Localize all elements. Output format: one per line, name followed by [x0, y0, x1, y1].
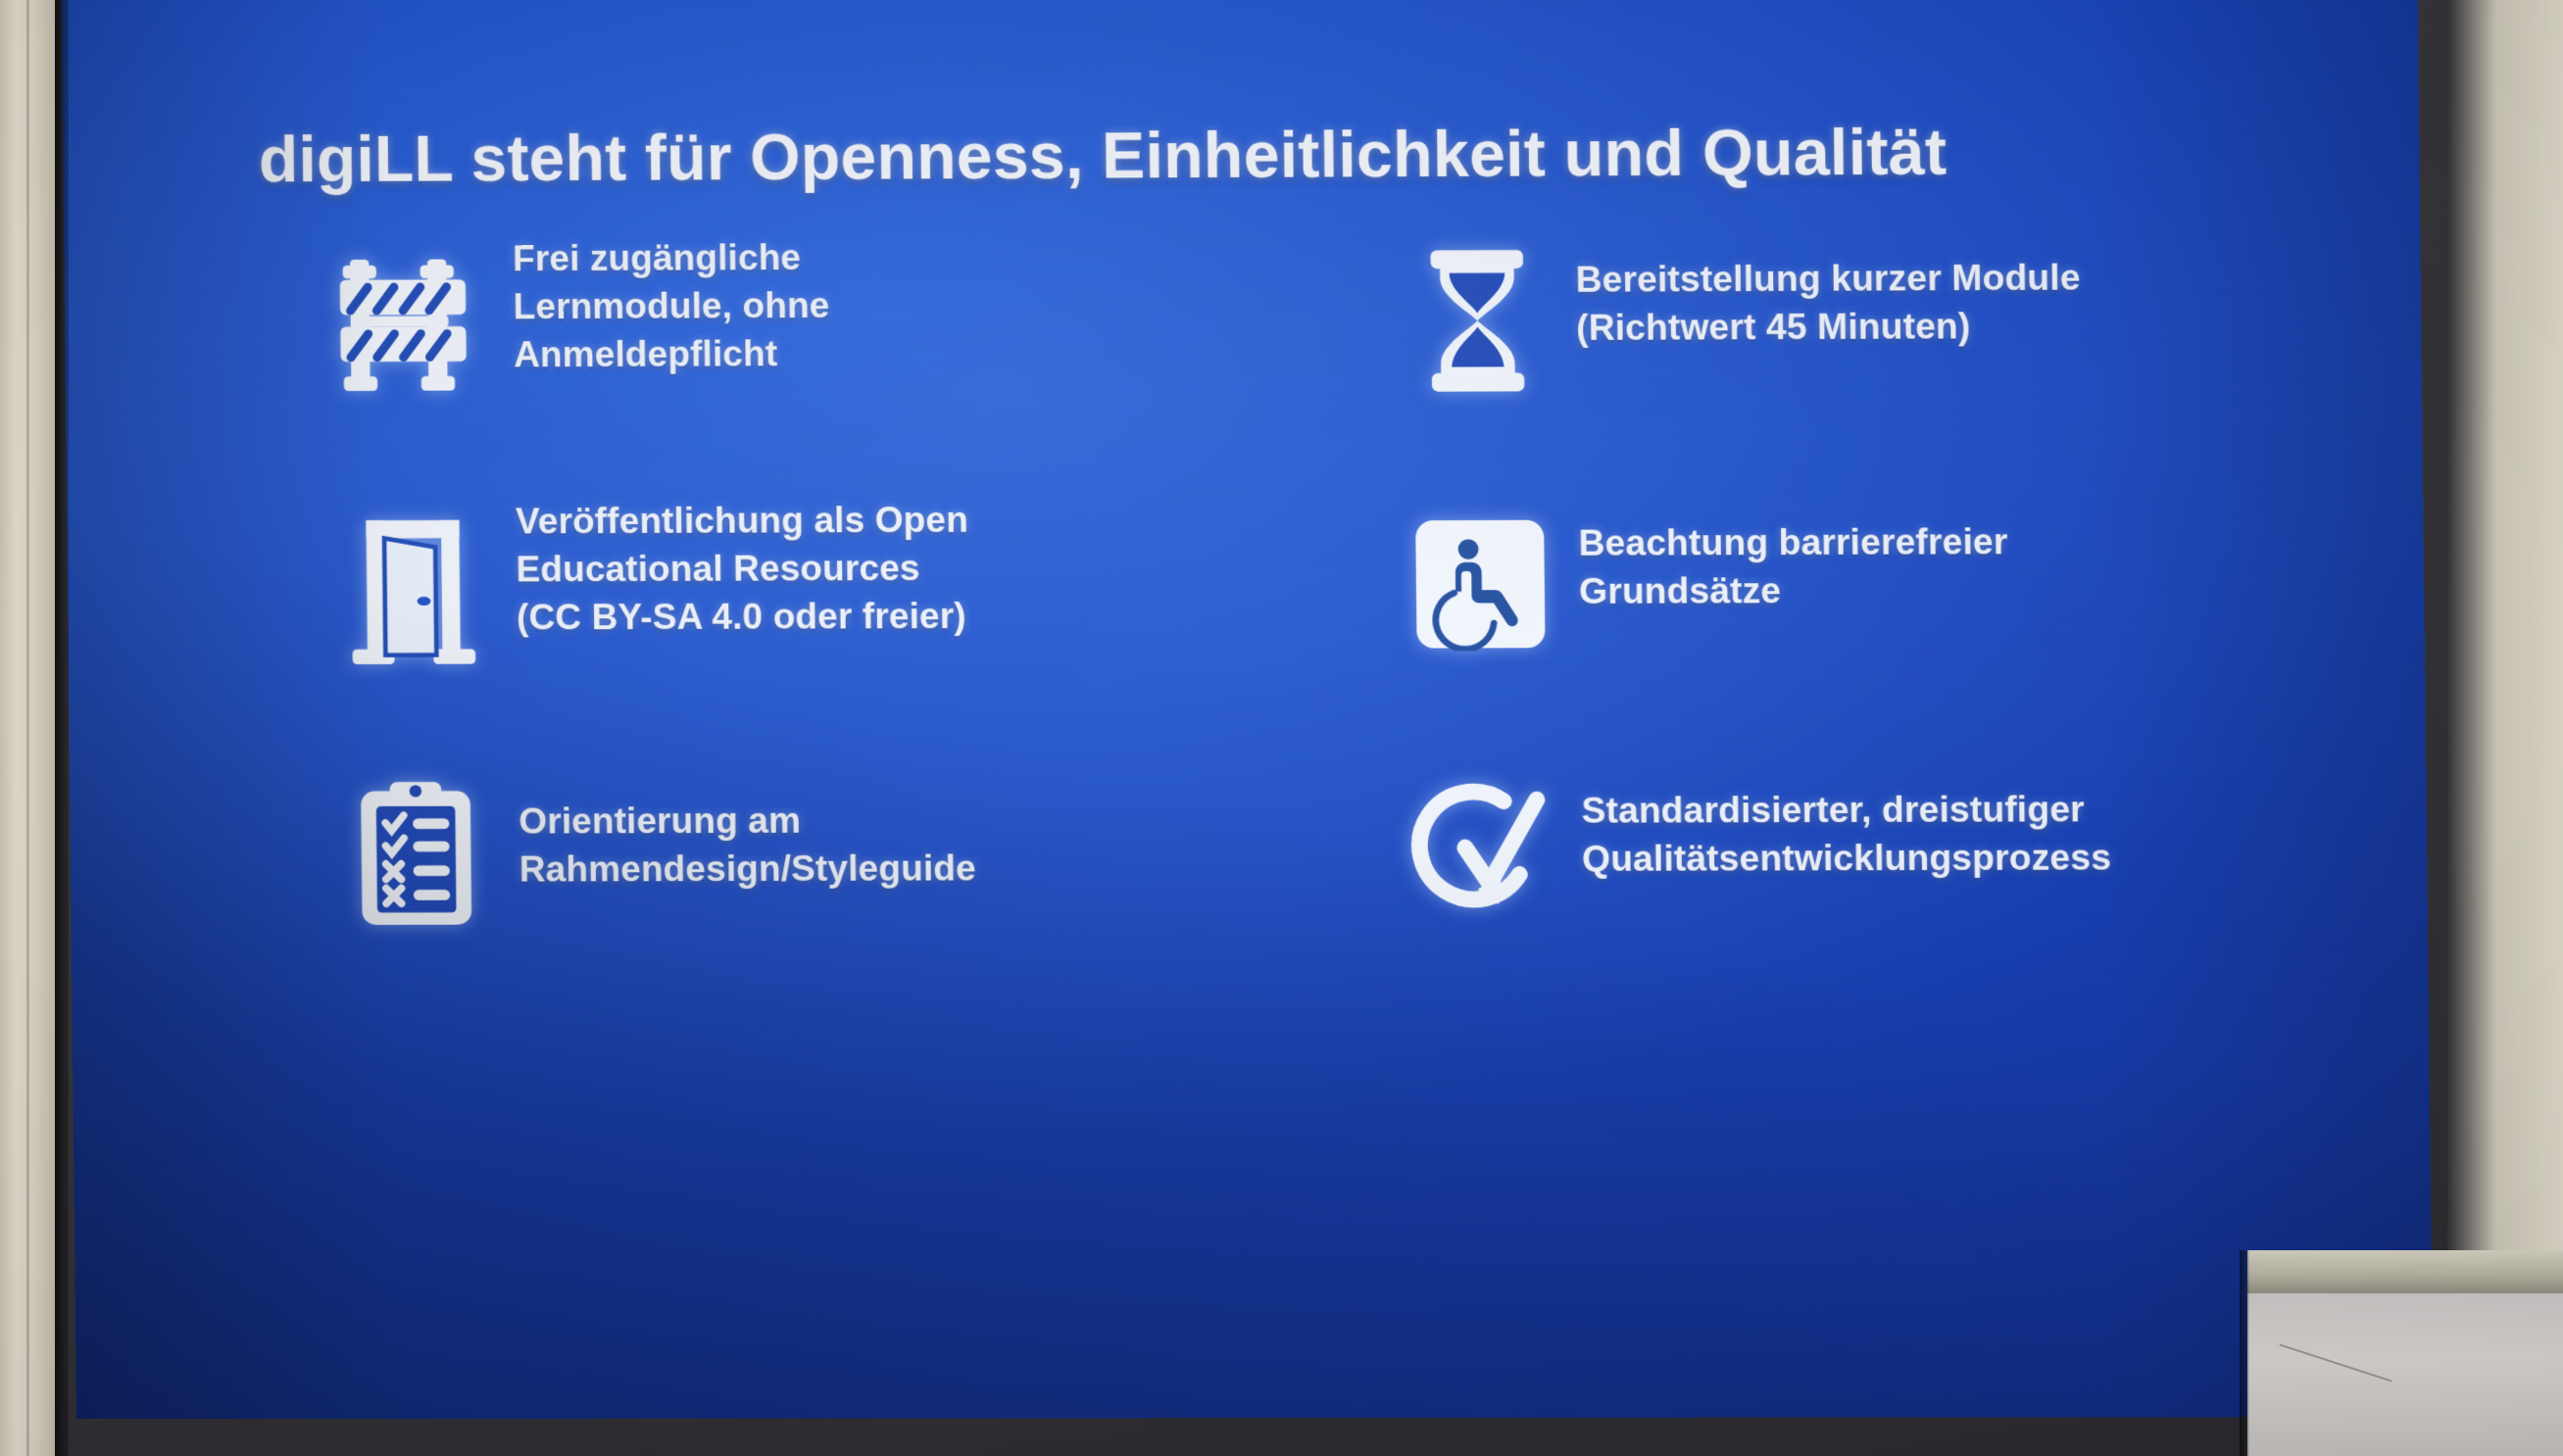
feature-line: (Richtwert 45 Minuten): [1576, 302, 2082, 353]
flipchart-easel: [2240, 1250, 2563, 1456]
feature-text: Beachtung barrierefreier Grundsätze: [1578, 484, 2008, 615]
feature-item: Orientierung am Rahmendesign/Styleguide: [313, 750, 1318, 1015]
wheelchair-accessibility-icon: [1381, 485, 1580, 682]
wall-edge-shadow: [55, 0, 69, 1456]
wall-seam-line: [26, 0, 29, 1456]
slide-content: digiLL steht für Openness, Einheitlichke…: [61, 0, 2433, 1419]
feature-line: Qualitätsentwicklungsprozess: [1582, 834, 2111, 884]
feature-line: Lernmodule, ohne: [513, 281, 829, 331]
feature-line: Anmeldepflicht: [514, 329, 830, 379]
feature-item: Frei zugängliche Lernmodule, ohne Anmeld…: [307, 223, 1312, 490]
flipchart-edge-shadow: [2240, 1250, 2249, 1456]
feature-line: Veröffentlichung als Open: [516, 496, 969, 546]
road-barrier-icon: [307, 226, 515, 423]
feature-item: Beachtung barrierefreier Grundsätze: [1381, 483, 2392, 750]
hourglass-icon: [1378, 222, 1577, 419]
feature-item: Veröffentlichung als Open Educational Re…: [310, 486, 1315, 752]
feature-line: Bereitstellung kurzer Module: [1575, 253, 2081, 304]
feature-item: Bereitstellung kurzer Module (Richtwert …: [1378, 218, 2390, 486]
feature-line: Educational Resources: [516, 544, 969, 594]
feature-column-left: Frei zugängliche Lernmodule, ohne Anmeld…: [307, 223, 1317, 1015]
clipboard-checklist-icon: [313, 752, 520, 949]
right-wall-strip: [2447, 0, 2563, 1284]
feature-text: Veröffentlichung als Open Educational Re…: [516, 488, 970, 642]
feature-text: Standardisierter, dreistufiger Qualitäts…: [1581, 748, 2111, 883]
flipchart-paper: [2247, 1293, 2563, 1456]
slide-title: digiLL steht für Openness, Einheitlichke…: [259, 113, 2290, 197]
feature-line: Standardisierter, dreistufiger: [1581, 785, 2110, 835]
room-photo-scene: digiLL steht für Openness, Einheitlichke…: [0, 0, 2563, 1456]
feature-text: Bereitstellung kurzer Module (Richtwert …: [1575, 219, 2081, 352]
circular-arrow-check-icon: [1384, 749, 1583, 946]
feature-line: (CC BY-SA 4.0 oder freier): [517, 592, 970, 642]
flipchart-rail: [2247, 1250, 2563, 1295]
feature-item: Standardisierter, dreistufiger Qualitäts…: [1384, 747, 2395, 1013]
feature-text: Frei zugängliche Lernmodule, ohne Anmeld…: [513, 225, 831, 379]
feature-line: Beachtung barrierefreier: [1578, 517, 2007, 567]
left-wall-strip: [0, 0, 55, 1456]
flipchart-paper-fold: [2280, 1344, 2392, 1383]
feature-line: Frei zugängliche: [513, 233, 829, 283]
feature-line: Orientierung am: [518, 796, 975, 845]
feature-text: Orientierung am Rahmendesign/Styleguide: [518, 751, 976, 894]
feature-column-right: Bereitstellung kurzer Module (Richtwert …: [1378, 218, 2395, 1013]
feature-line: Grundsätze: [1579, 566, 2008, 616]
open-door-icon: [310, 489, 518, 686]
feature-line: Rahmendesign/Styleguide: [519, 845, 976, 894]
projected-slide: digiLL steht für Openness, Einheitlichke…: [61, 0, 2433, 1419]
